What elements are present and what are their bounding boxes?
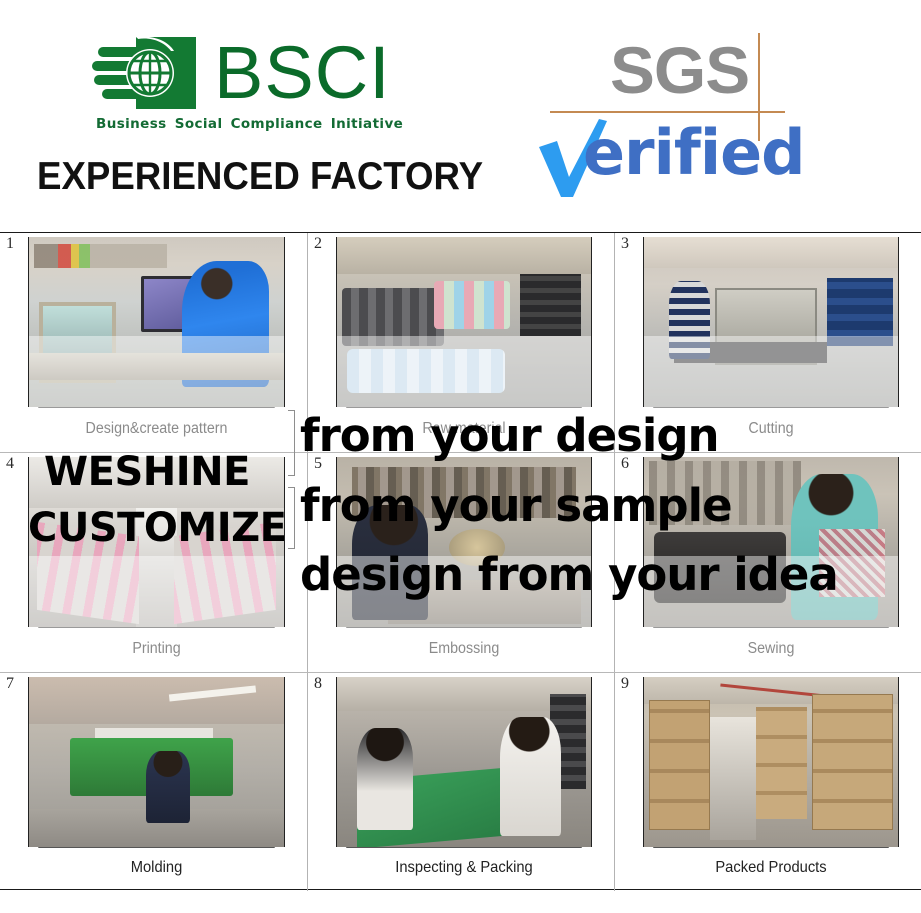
bsci-logo-row: BSCI [92,32,392,114]
overlay-line-2: from your sample [300,483,732,528]
bsci-certification-logo: BSCI Business Social Compliance Initiati… [92,32,392,142]
experienced-factory-title: EXPERIENCED FACTORY [37,155,483,199]
cutting-machine-photo [643,237,899,407]
overlay-line-1: from your design [300,413,719,458]
bracket-mark-lower [288,487,295,549]
cell-caption: Molding [38,847,274,889]
photo-scrim [644,336,898,407]
design-office-photo [28,237,285,407]
overlay-line-3: design from your idea [300,552,838,597]
process-cell-7[interactable]: 7 Molding [0,673,307,891]
bsci-acronym: BSCI [214,38,391,108]
sgs-brand-text: SGS [610,35,749,105]
cell-caption: Printing [38,627,274,669]
header: BSCI Business Social Compliance Initiati… [0,0,921,222]
packed-cartons-photo [643,677,899,847]
cell-number: 2 [314,236,322,252]
cell-caption: Inspecting & Packing [346,847,582,889]
cell-number: 9 [621,676,629,692]
cell-caption: Design&create pattern [38,407,274,449]
cell-number: 8 [314,676,322,692]
cell-number: 3 [621,236,629,252]
photo-scrim [337,336,591,407]
process-cell-8[interactable]: 8 Inspecting & Packing [307,673,614,891]
cell-caption: Embossing [346,627,582,669]
sgs-bottom: erified [545,123,875,203]
photo-scrim [337,775,591,846]
fabric-rolls-photo [336,237,592,407]
cell-number: 4 [6,456,14,472]
factory-capability-banner: BSCI Business Social Compliance Initiati… [0,0,921,913]
photo-scrim [29,775,284,846]
sgs-verified-text: erified [583,117,805,189]
photo-scrim [644,775,898,846]
cell-caption: Sewing [653,627,889,669]
process-cell-9[interactable]: 9 Packed Products [614,673,921,891]
molding-machines-photo [28,677,285,847]
process-row-3: 7 Molding 8 [0,672,921,891]
bsci-tagline: Business Social Compliance Initiative [96,116,392,132]
bracket-mark-upper [288,410,295,476]
overlay-weshine: WESHINE [44,452,250,492]
cell-number: 1 [6,236,14,252]
sgs-horizontal-rule [550,111,785,113]
cell-number: 7 [6,676,14,692]
inspecting-packing-photo [336,677,592,847]
photo-scrim [29,336,284,407]
sgs-verified-logo: SGS erified [545,35,875,205]
photo-scrim [29,556,284,627]
cell-caption: Packed Products [653,847,889,889]
overlay-customize: CUSTOMIZE [28,508,286,548]
hand-globe-icon [92,33,210,113]
sgs-top: SGS [545,35,875,117]
process-cell-1[interactable]: 1 Design&create pattern [0,233,307,452]
